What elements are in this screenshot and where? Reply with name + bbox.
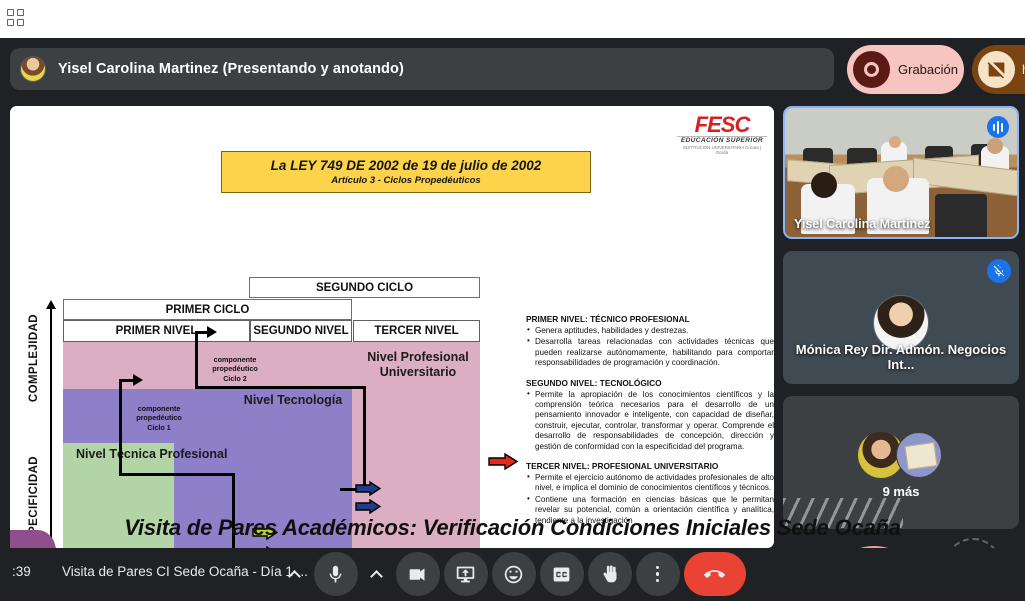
connector-cycle1-horizontal bbox=[119, 473, 235, 476]
panel-heading-tercer-nivel: TERCER NIVEL: PROFESIONAL UNIVERSITARIO bbox=[526, 461, 774, 471]
list-item: Genera aptitudes, habilidades y destreza… bbox=[526, 326, 774, 336]
screen-root: Yisel Carolina Martinez (Presentando y a… bbox=[0, 0, 1025, 601]
arrow-blue-icon bbox=[355, 481, 381, 496]
label-componente-ciclo1: componente propedéutico Ciclo 1 bbox=[120, 404, 198, 432]
slide-title-box: La LEY 749 DE 2002 de 19 de julio de 200… bbox=[221, 151, 591, 193]
closed-captions-icon bbox=[551, 564, 572, 585]
panel-heading-primer-nivel: PRIMER NIVEL: TÉCNICO PROFESIONAL bbox=[526, 314, 774, 324]
panel-list-primer-nivel: Genera aptitudes, habilidades y destreza… bbox=[526, 326, 774, 369]
box-primer-ciclo: PRIMER CICLO bbox=[63, 299, 352, 320]
video-tile-monica[interactable]: Mónica Rey Dir. Admón. Negocios Int... bbox=[783, 251, 1019, 384]
connector-cycle2-horizontal bbox=[195, 386, 366, 389]
box-segundo-nivel: SEGUNDO NIVEL bbox=[250, 320, 352, 342]
list-item: Permite el ejercicio autónomo de activid… bbox=[526, 473, 774, 494]
meeting-name: Visita de Pares CI Sede Ocaña - Día 1 ..… bbox=[62, 564, 308, 579]
fesc-logo-small: INSTITUCIÓN UNIVERSITARIA Cúcuta | Ocaña bbox=[677, 145, 767, 155]
label-nivel-profesional: Nivel Profesional Universitario bbox=[362, 350, 474, 380]
label-nivel-tecnologia: Nivel Tecnología bbox=[238, 393, 348, 408]
camera-button[interactable] bbox=[396, 552, 440, 596]
avatar-group bbox=[858, 432, 944, 478]
slide-text-panel: PRIMER NIVEL: TÉCNICO PROFESIONAL Genera… bbox=[526, 314, 774, 548]
avatar bbox=[896, 432, 942, 478]
label-nivel-tecnica: Nivel Técnica Profesional bbox=[76, 447, 246, 462]
arrow-green-icon bbox=[252, 525, 278, 540]
axis-label-complejidad: COMPLEJIDAD bbox=[28, 314, 40, 402]
box-segundo-ciclo: SEGUNDO CICLO bbox=[249, 277, 480, 298]
mic-options-button[interactable] bbox=[280, 552, 310, 596]
connector-cycle1-arrow-icon bbox=[133, 374, 143, 386]
recording-label: Grabación bbox=[898, 62, 958, 77]
presenter-avatar bbox=[20, 56, 46, 82]
panel-list-segundo-nivel: Permite la apropiación de los conocimien… bbox=[526, 390, 774, 452]
present-screen-button[interactable] bbox=[444, 552, 488, 596]
tile-label: 9 más bbox=[783, 484, 1019, 499]
tile-label: Yisel Carolina Martinez bbox=[794, 217, 930, 231]
meet-app: Yisel Carolina Martinez (Presentando y a… bbox=[0, 38, 1025, 601]
arrow-red-icon bbox=[488, 453, 518, 470]
control-buttons bbox=[280, 552, 746, 596]
list-item: Permite la apropiación de los conocimien… bbox=[526, 390, 774, 452]
video-tile-overflow[interactable]: 9 más bbox=[783, 396, 1019, 529]
band-professional-lower bbox=[352, 389, 480, 548]
chevron-up-icon bbox=[370, 570, 383, 583]
meeting-time: :39 bbox=[12, 564, 31, 579]
video-camera-icon bbox=[407, 564, 428, 585]
slide-subtitle-text: Artículo 3 - Ciclos Propedéuticos bbox=[331, 175, 480, 186]
panel-list-tercer-nivel: Permite el ejercicio autónomo de activid… bbox=[526, 473, 774, 526]
list-item: Desarrolla tareas relacionadas con activ… bbox=[526, 337, 774, 368]
captions-button[interactable] bbox=[540, 552, 584, 596]
axis-label-especificidad: ESPECIFICIDAD bbox=[28, 456, 40, 548]
mic-icon bbox=[325, 564, 346, 585]
slide-title-text: La LEY 749 DE 2002 de 19 de julio de 200… bbox=[271, 158, 542, 173]
audio-level-icon bbox=[987, 116, 1009, 138]
browser-chrome bbox=[0, 0, 1025, 38]
connector-cycle2-vertical bbox=[195, 331, 198, 389]
raised-hand-icon bbox=[599, 564, 620, 585]
stop-presenting-icon bbox=[978, 51, 1015, 88]
present-screen-icon bbox=[455, 564, 476, 585]
fesc-logo-tagline: EDUCACIÓN SUPERIOR bbox=[677, 136, 767, 144]
presenter-chip[interactable]: Yisel Carolina Martinez (Presentando y a… bbox=[10, 48, 834, 90]
presenting-indicator[interactable]: h bbox=[972, 45, 1025, 94]
label-componente-ciclo2: componente propedéutico Ciclo 2 bbox=[196, 355, 274, 383]
emoji-reactions-button[interactable] bbox=[492, 552, 536, 596]
fesc-logo-accent: C bbox=[734, 112, 749, 137]
tile-label: Mónica Rey Dir. Admón. Negocios Int... bbox=[783, 342, 1019, 372]
smiley-icon bbox=[503, 564, 524, 585]
leave-call-button[interactable] bbox=[684, 552, 746, 596]
fesc-logo-main: FES bbox=[695, 112, 735, 137]
list-item: Contiene una formación en ciencias básic… bbox=[526, 495, 774, 526]
more-options-button[interactable] bbox=[636, 552, 680, 596]
participant-rail: Yisel Carolina Martinez Mónica Rey Dir. … bbox=[783, 106, 1019, 548]
arrow-blue-icon bbox=[355, 499, 381, 514]
recording-indicator[interactable]: Grabación bbox=[847, 45, 964, 94]
fesc-logo: FESC EDUCACIÓN SUPERIOR INSTITUCIÓN UNIV… bbox=[677, 114, 767, 156]
mic-off-icon bbox=[987, 259, 1011, 283]
connector-cycle1-vertical bbox=[119, 379, 122, 476]
hangup-icon bbox=[704, 564, 725, 585]
connector-cycle1-right bbox=[232, 473, 235, 548]
record-dot-icon bbox=[853, 51, 890, 88]
chevron-up-icon bbox=[288, 570, 301, 583]
axis-double-arrow-icon bbox=[50, 308, 52, 548]
presenter-name: Yisel Carolina Martinez (Presentando y a… bbox=[58, 61, 404, 77]
microphone-button[interactable] bbox=[314, 552, 358, 596]
connector-cycle2-arrow-icon bbox=[207, 326, 217, 338]
panel-heading-segundo-nivel: SEGUNDO NIVEL: TECNOLÓGICO bbox=[526, 378, 774, 388]
meeting-control-bar: :39 Visita de Pares CI Sede Ocaña - Día … bbox=[0, 548, 1025, 601]
box-tercer-nivel: TERCER NIVEL bbox=[353, 320, 480, 342]
box-primer-nivel: PRIMER NIVEL bbox=[63, 320, 250, 342]
more-vertical-icon bbox=[656, 566, 660, 583]
video-tile-yisel[interactable]: Yisel Carolina Martinez bbox=[783, 106, 1019, 239]
apps-grid-icon[interactable] bbox=[7, 9, 25, 27]
camera-options-button[interactable] bbox=[362, 552, 392, 596]
presentation-slide: La LEY 749 DE 2002 de 19 de julio de 200… bbox=[10, 106, 774, 548]
connector-cycle2-right bbox=[363, 386, 366, 491]
raise-hand-button[interactable] bbox=[588, 552, 632, 596]
shared-screen-stage[interactable]: La LEY 749 DE 2002 de 19 de julio de 200… bbox=[10, 106, 774, 548]
